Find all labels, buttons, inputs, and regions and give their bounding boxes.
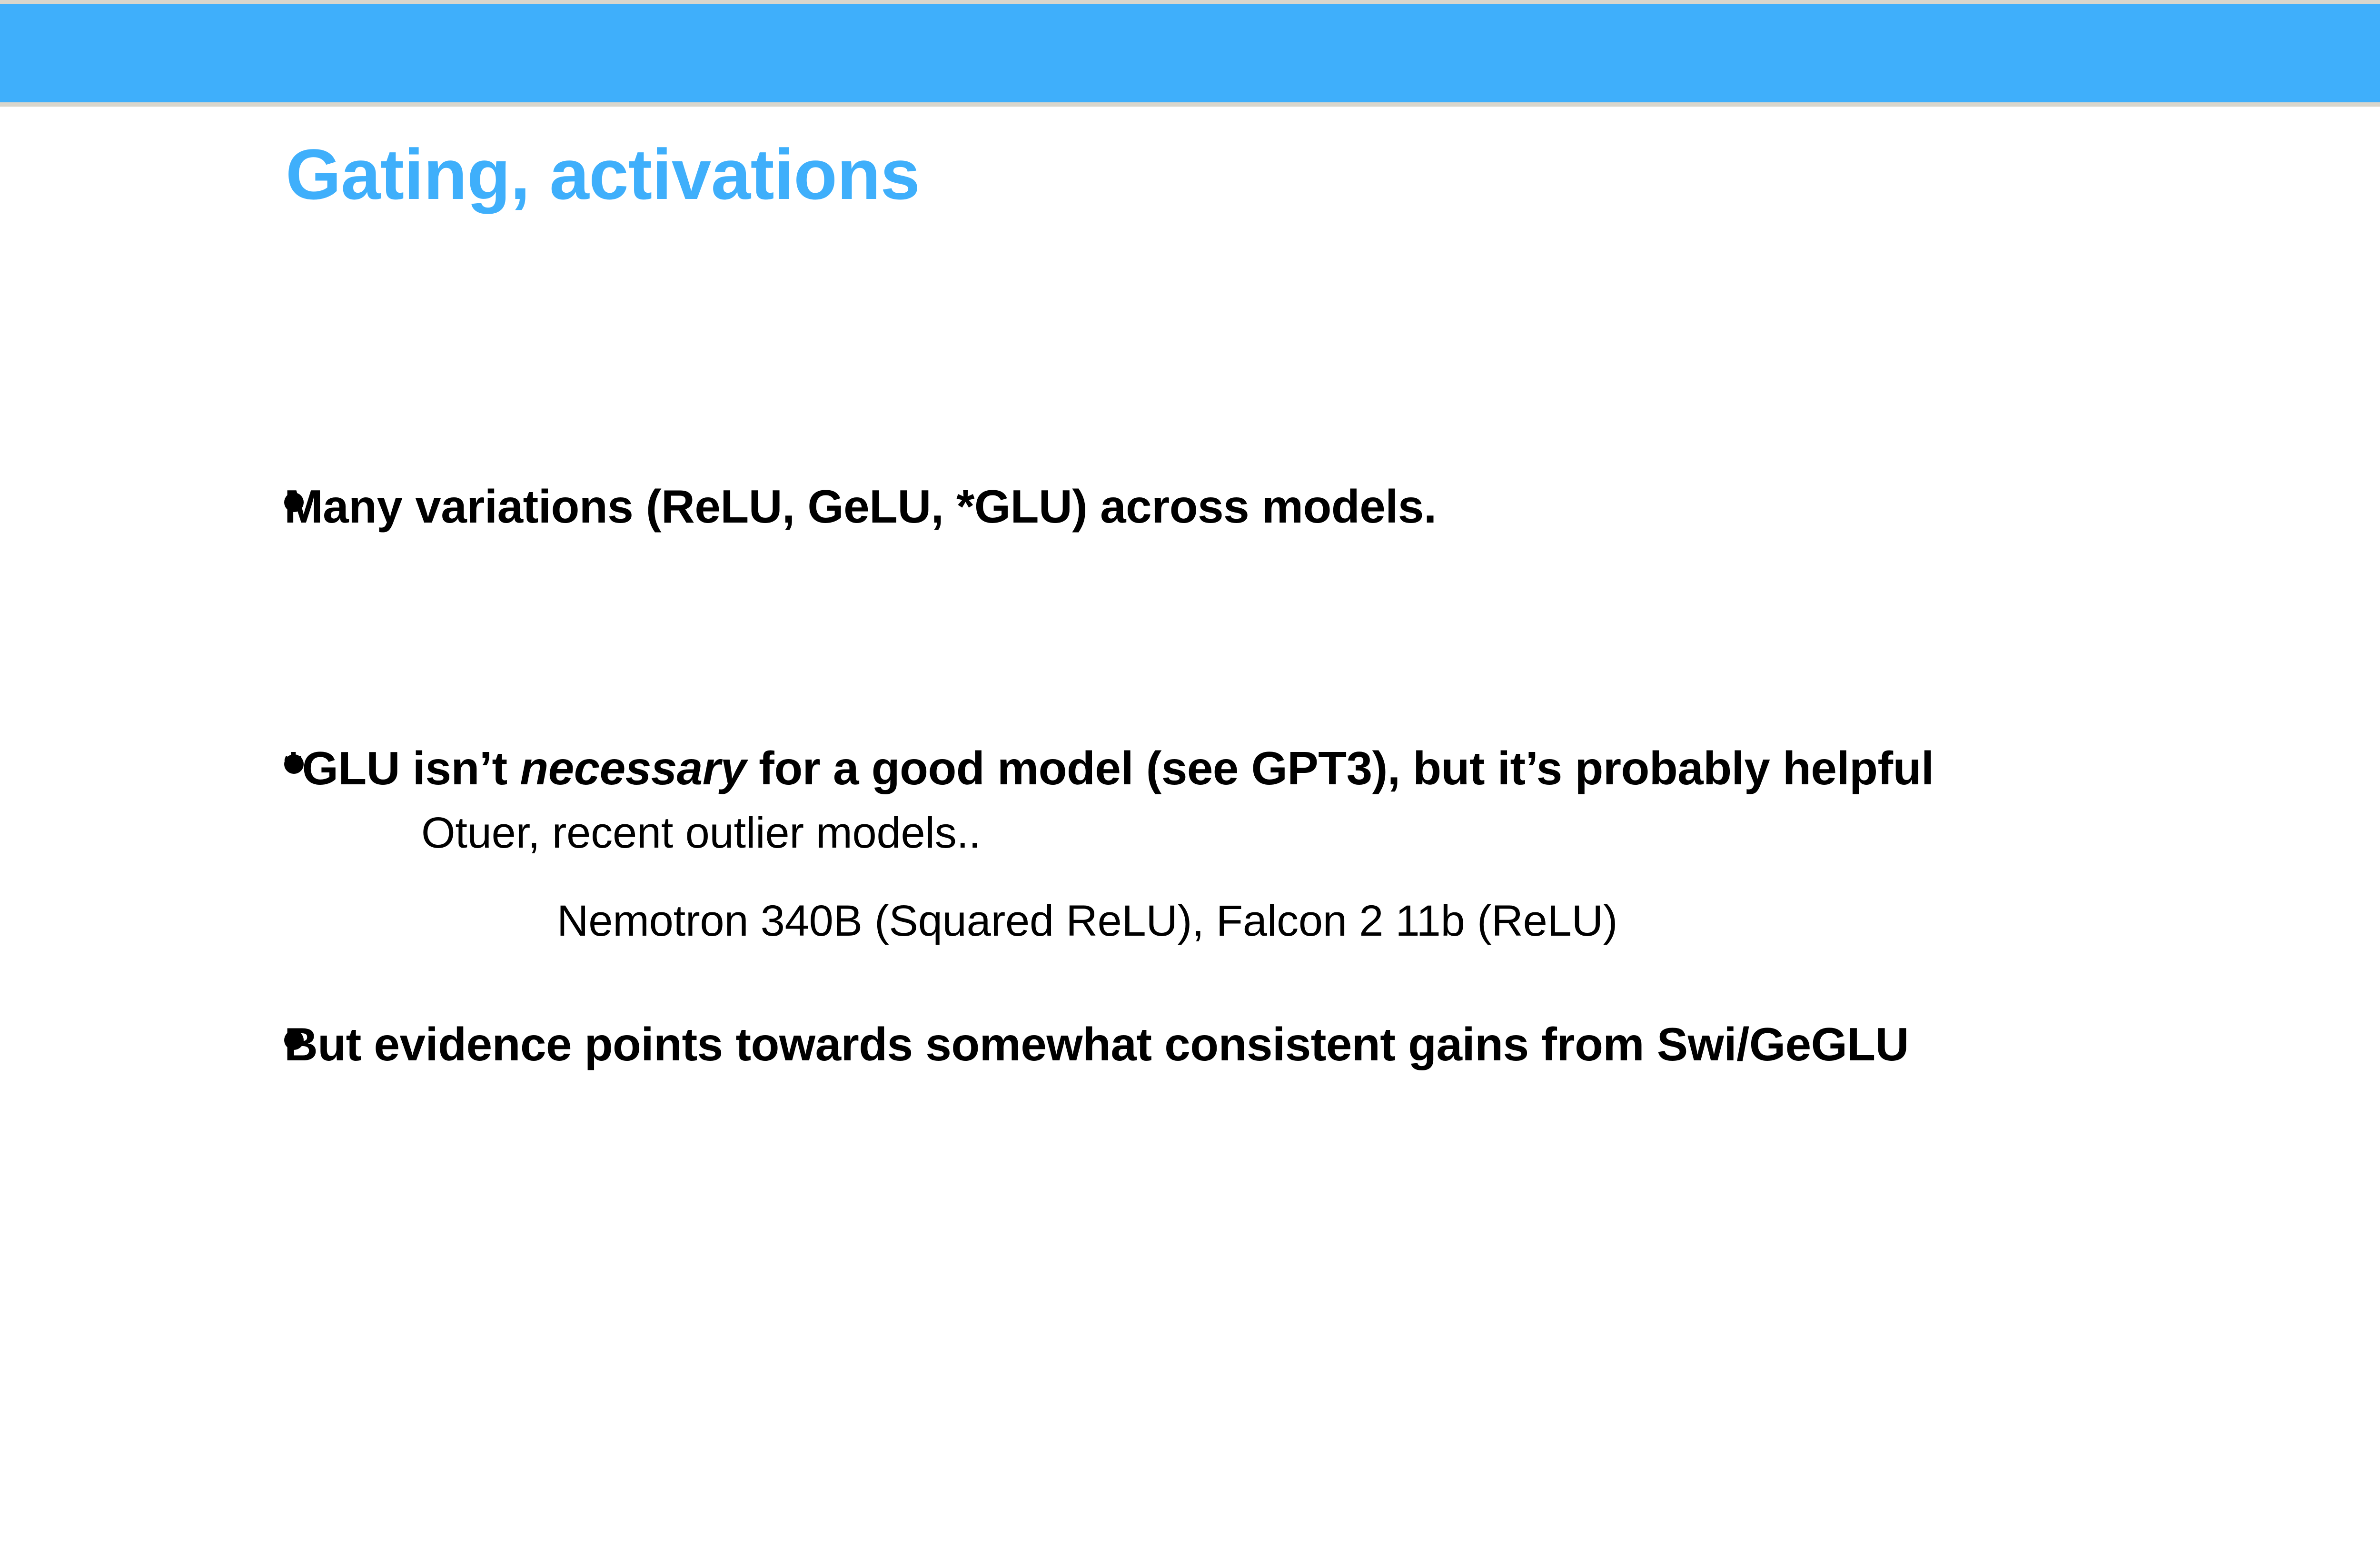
banner-rule-top bbox=[0, 0, 2380, 4]
bullet-marker-3 bbox=[0, 1018, 284, 1069]
bullet-item-3: But evidence points towards somewhat con… bbox=[0, 1018, 2380, 1071]
bullet-marker-1 bbox=[0, 481, 284, 531]
bullet-text-2-emphasis: necessary bbox=[520, 742, 746, 794]
bullet-text-1: Many variations (ReLU, GeLU, *GLU) acros… bbox=[284, 481, 2380, 533]
slide-body: Many variations (ReLU, GeLU, *GLU) acros… bbox=[0, 428, 2380, 1070]
bullet-text-2-lead: *GLU isn’t bbox=[284, 742, 520, 794]
decorative-top-banner bbox=[0, 0, 2380, 107]
banner-accent-band bbox=[0, 4, 2380, 102]
bullet-text-2: *GLU isn’t necessary for a good model (s… bbox=[284, 742, 2380, 795]
bullet-item-2: *GLU isn’t necessary for a good model (s… bbox=[0, 742, 2380, 795]
bullet-dot-icon bbox=[284, 754, 304, 774]
bullet-2-subline-2: Nemotron 340B (Squared ReLU), Falcon 2 1… bbox=[557, 897, 1617, 945]
slide-title: Gating, activations bbox=[286, 136, 920, 213]
bullet-text-2-tail: for a good model (see GPT3), but it’s pr… bbox=[746, 742, 1934, 794]
bullet-2-subline-1: Otuer, recent outlier models.. bbox=[421, 809, 981, 857]
banner-rule-bottom bbox=[0, 102, 2380, 107]
bullet-marker-2 bbox=[0, 742, 284, 793]
bullet-text-3: But evidence points towards somewhat con… bbox=[284, 1018, 2380, 1071]
bullet-dot-icon bbox=[284, 1030, 304, 1050]
bullet-item-1: Many variations (ReLU, GeLU, *GLU) acros… bbox=[0, 481, 2380, 533]
